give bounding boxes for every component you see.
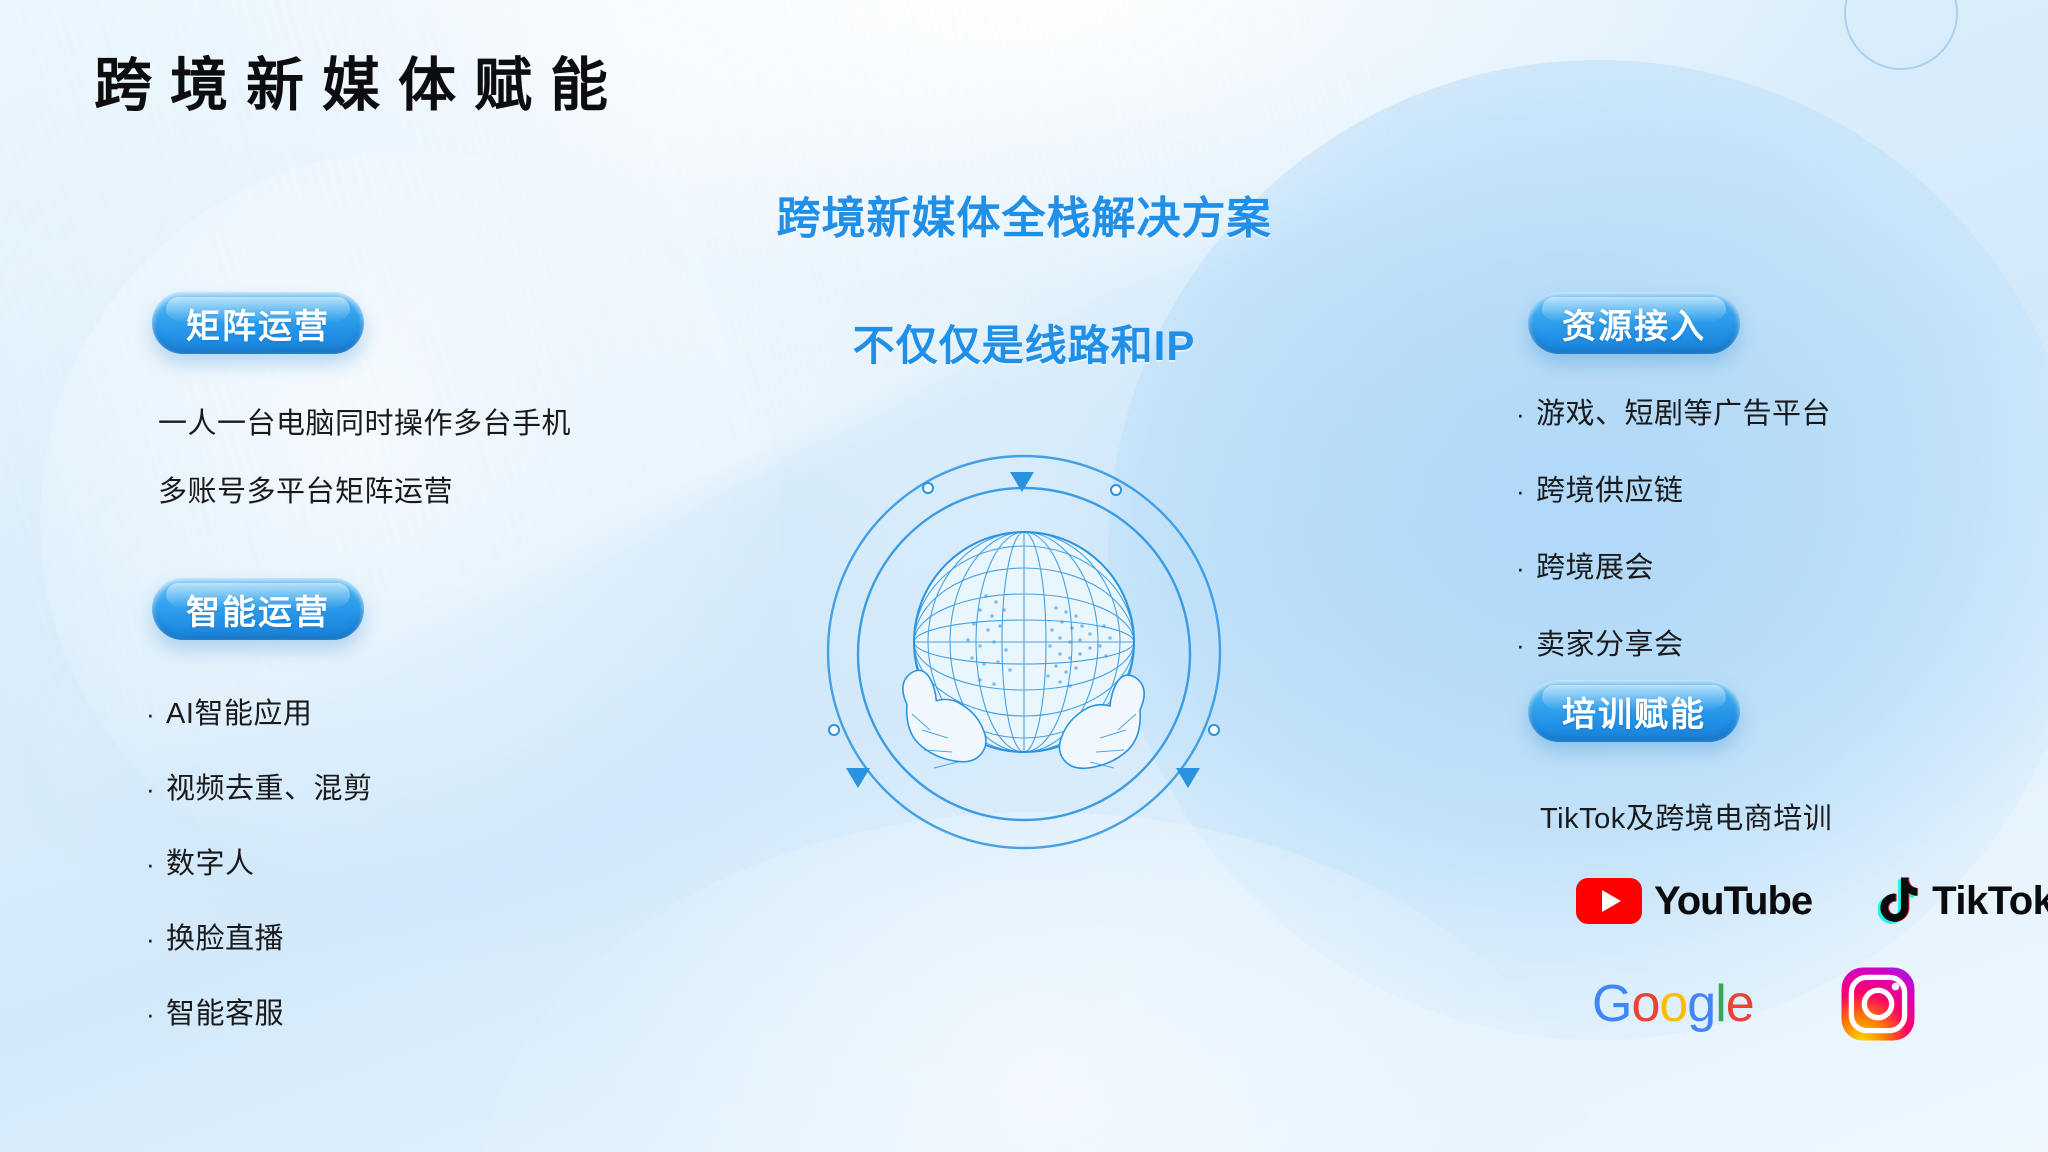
youtube-logo-label: YouTube: [1654, 879, 1812, 924]
list-item: · 卖家分享会: [1516, 621, 1831, 663]
right-bullet-list: · 游戏、短剧等广告平台 · 跨境供应链 · 跨境展会 · 卖家分享会: [1516, 390, 1831, 663]
badge-smart-operations[interactable]: 智能运营: [152, 578, 364, 640]
list-item-label: 换脸直播: [166, 915, 284, 957]
list-item: · 视频去重、混剪: [146, 765, 373, 807]
badge-training-empowerment[interactable]: 培训赋能: [1528, 680, 1740, 742]
list-item-label: 游戏、短剧等广告平台: [1536, 390, 1831, 432]
left-bullet-list: · AI智能应用 · 视频去重、混剪 · 数字人 · 换脸直播 · 智能客服: [146, 690, 373, 1032]
bullet-dot-icon: ·: [1516, 630, 1536, 661]
list-item-label: 跨境供应链: [1536, 467, 1684, 509]
list-item: · AI智能应用: [146, 690, 373, 732]
list-item-label: 视频去重、混剪: [166, 765, 373, 807]
hands-holding-globe-illustration: [804, 430, 1244, 870]
list-item-label: 数字人: [166, 840, 255, 882]
google-letter-l: l: [1715, 975, 1726, 1033]
list-item: · 智能客服: [146, 990, 373, 1032]
bullet-dot-icon: ·: [146, 999, 166, 1030]
orbit-node-icon: [1209, 725, 1219, 735]
center-heading-primary-text: 跨境新媒体全栈解决方案: [777, 182, 1272, 246]
google-letter-o1: o: [1631, 975, 1659, 1033]
tiktok-note-icon: [1878, 876, 1922, 926]
badge-smart-operations-label: 智能运营: [186, 585, 330, 634]
logo-row-top: YouTube TikTok: [1576, 876, 2048, 926]
left-text-line-2: 多账号多平台矩阵运营: [158, 468, 453, 510]
list-item-label: 卖家分享会: [1536, 621, 1684, 663]
badge-training-empowerment-label: 培训赋能: [1562, 687, 1706, 736]
google-logo[interactable]: Google: [1592, 974, 1754, 1034]
page-title: 跨境新媒体赋能: [94, 38, 626, 122]
google-letter-g1: G: [1592, 975, 1631, 1033]
left-text-line-1: 一人一台电脑同时操作多台手机: [158, 400, 571, 442]
list-item: · 换脸直播: [146, 915, 373, 957]
list-item: · 数字人: [146, 840, 373, 882]
bullet-dot-icon: ·: [146, 699, 166, 730]
tiktok-logo[interactable]: TikTok: [1878, 876, 2048, 926]
bullet-dot-icon: ·: [146, 774, 166, 805]
google-letter-o2: o: [1659, 975, 1687, 1033]
center-heading-primary: 跨境新媒体全栈解决方案: [0, 182, 2048, 246]
youtube-play-icon: [1576, 878, 1642, 924]
list-item-label: 智能客服: [166, 990, 284, 1032]
youtube-logo[interactable]: YouTube: [1576, 878, 1812, 924]
bullet-dot-icon: ·: [146, 849, 166, 880]
list-item: · 游戏、短剧等广告平台: [1516, 390, 1831, 432]
badge-matrix-operations-label: 矩阵运营: [186, 299, 330, 348]
decorative-ring-icon: [1844, 0, 1958, 70]
instagram-flash-dot-icon: [1891, 983, 1899, 991]
bullet-dot-icon: ·: [146, 924, 166, 955]
list-item: · 跨境展会: [1516, 544, 1831, 586]
orbit-node-icon: [1111, 485, 1121, 495]
slide-canvas: 跨境新媒体赋能 跨境新媒体全栈解决方案 不仅仅是线路和IP 矩阵运营 一人一台电…: [0, 0, 2048, 1152]
list-item-label: AI智能应用: [166, 690, 312, 732]
center-heading-secondary-text: 不仅仅是线路和IP: [853, 312, 1196, 373]
bullet-dot-icon: ·: [1516, 553, 1536, 584]
instagram-logo[interactable]: [1840, 966, 1916, 1042]
orbit-node-icon: [829, 725, 839, 735]
right-text-line-1: TikTok及跨境电商培训: [1540, 795, 1832, 837]
google-letter-g2: g: [1687, 975, 1715, 1033]
tiktok-logo-label: TikTok: [1932, 879, 2048, 924]
logo-row-bottom: Google: [1592, 966, 1916, 1042]
orbit-node-icon: [923, 483, 933, 493]
google-letter-e: e: [1726, 975, 1754, 1033]
list-item: · 跨境供应链: [1516, 467, 1831, 509]
badge-resource-access-label: 资源接入: [1562, 299, 1706, 348]
list-item-label: 跨境展会: [1536, 544, 1654, 586]
bullet-dot-icon: ·: [1516, 399, 1536, 430]
badge-matrix-operations[interactable]: 矩阵运营: [152, 292, 364, 354]
badge-resource-access[interactable]: 资源接入: [1528, 292, 1740, 354]
bullet-dot-icon: ·: [1516, 476, 1536, 507]
